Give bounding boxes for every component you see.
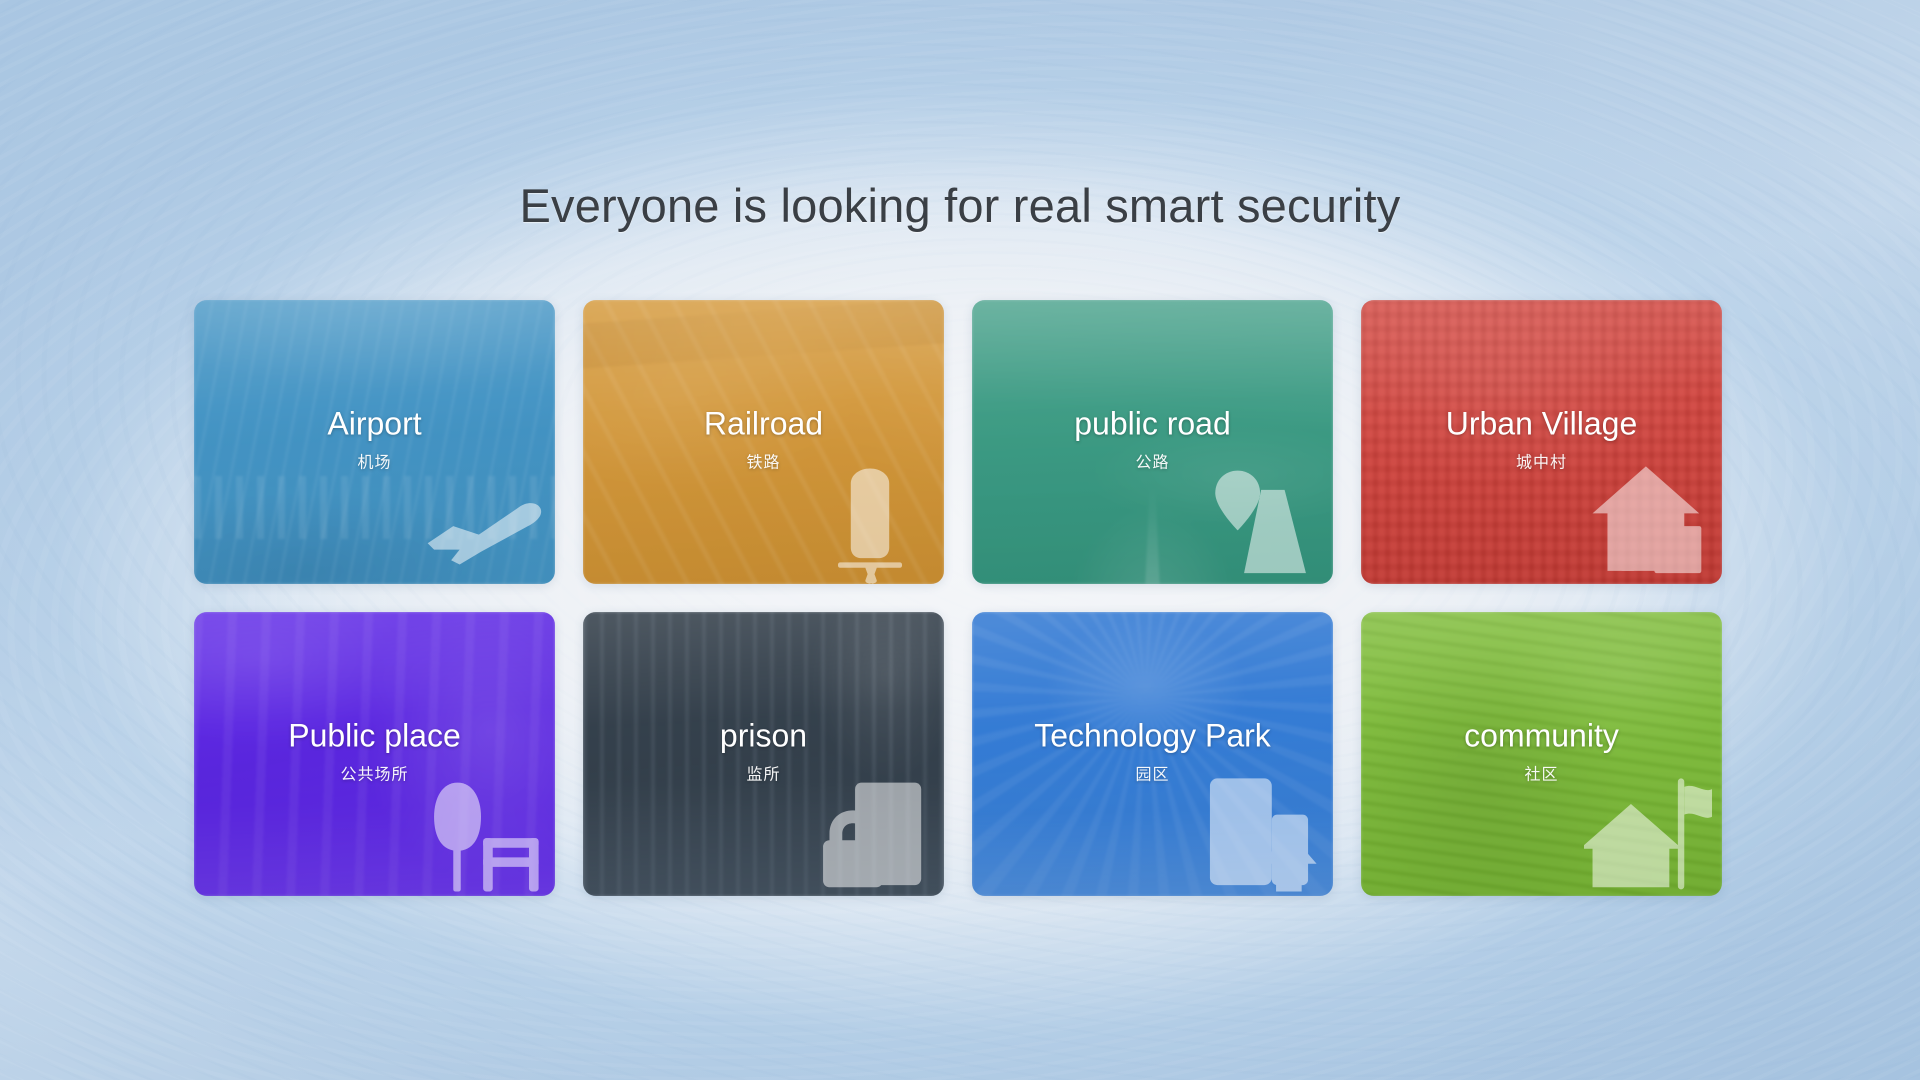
community-labels: community 社区 (1361, 718, 1722, 785)
scenario-card-prison[interactable]: prison 监所 (583, 612, 944, 896)
scenario-card-community[interactable]: community 社区 (1361, 612, 1722, 896)
public-place-label-zh: 公共场所 (194, 761, 555, 785)
urban-village-label-zh: 城中村 (1361, 449, 1722, 473)
public-road-labels: public road 公路 (972, 406, 1333, 473)
airport-labels: Airport 机场 (194, 406, 555, 473)
house-roof-icon (1584, 460, 1712, 584)
page-title: Everyone is looking for real smart secur… (0, 178, 1920, 233)
scenario-card-public-place[interactable]: Public place 公共场所 (194, 612, 555, 896)
scenario-card-urban-village[interactable]: Urban Village 城中村 (1361, 300, 1722, 584)
technology-park-labels: Technology Park 园区 (972, 718, 1333, 785)
train-icon (806, 460, 934, 584)
railroad-label-zh: 铁路 (583, 449, 944, 473)
prison-label-zh: 监所 (583, 761, 944, 785)
scenario-card-public-road[interactable]: public road 公路 (972, 300, 1333, 584)
prison-labels: prison 监所 (583, 718, 944, 785)
railroad-labels: Railroad 铁路 (583, 406, 944, 473)
door-lock-icon (806, 772, 934, 896)
scenario-card-railroad[interactable]: Railroad 铁路 (583, 300, 944, 584)
public-road-label-en: public road (972, 406, 1333, 444)
airport-label-zh: 机场 (194, 449, 555, 473)
office-building-tree-icon (1195, 772, 1323, 896)
railroad-label-en: Railroad (583, 406, 944, 444)
public-road-label-zh: 公路 (972, 449, 1333, 473)
technology-park-label-zh: 园区 (972, 761, 1333, 785)
airport-label-en: Airport (194, 406, 555, 444)
content-stage: Everyone is looking for real smart secur… (0, 0, 1920, 1080)
airplane-icon (417, 460, 545, 584)
scenario-card-airport[interactable]: Airport 机场 (194, 300, 555, 584)
house-flag-icon (1584, 772, 1712, 896)
public-place-label-en: Public place (194, 718, 555, 756)
scenario-card-grid: Airport 机场 Ra (194, 300, 1722, 896)
public-place-labels: Public place 公共场所 (194, 718, 555, 785)
prison-label-en: prison (583, 718, 944, 756)
urban-village-label-en: Urban Village (1361, 406, 1722, 444)
community-label-en: community (1361, 718, 1722, 756)
road-pin-icon (1195, 460, 1323, 584)
community-label-zh: 社区 (1361, 761, 1722, 785)
technology-park-label-en: Technology Park (972, 718, 1333, 756)
scenario-card-technology-park[interactable]: Technology Park 园区 (972, 612, 1333, 896)
urban-village-labels: Urban Village 城中村 (1361, 406, 1722, 473)
tree-bench-icon (417, 772, 545, 896)
